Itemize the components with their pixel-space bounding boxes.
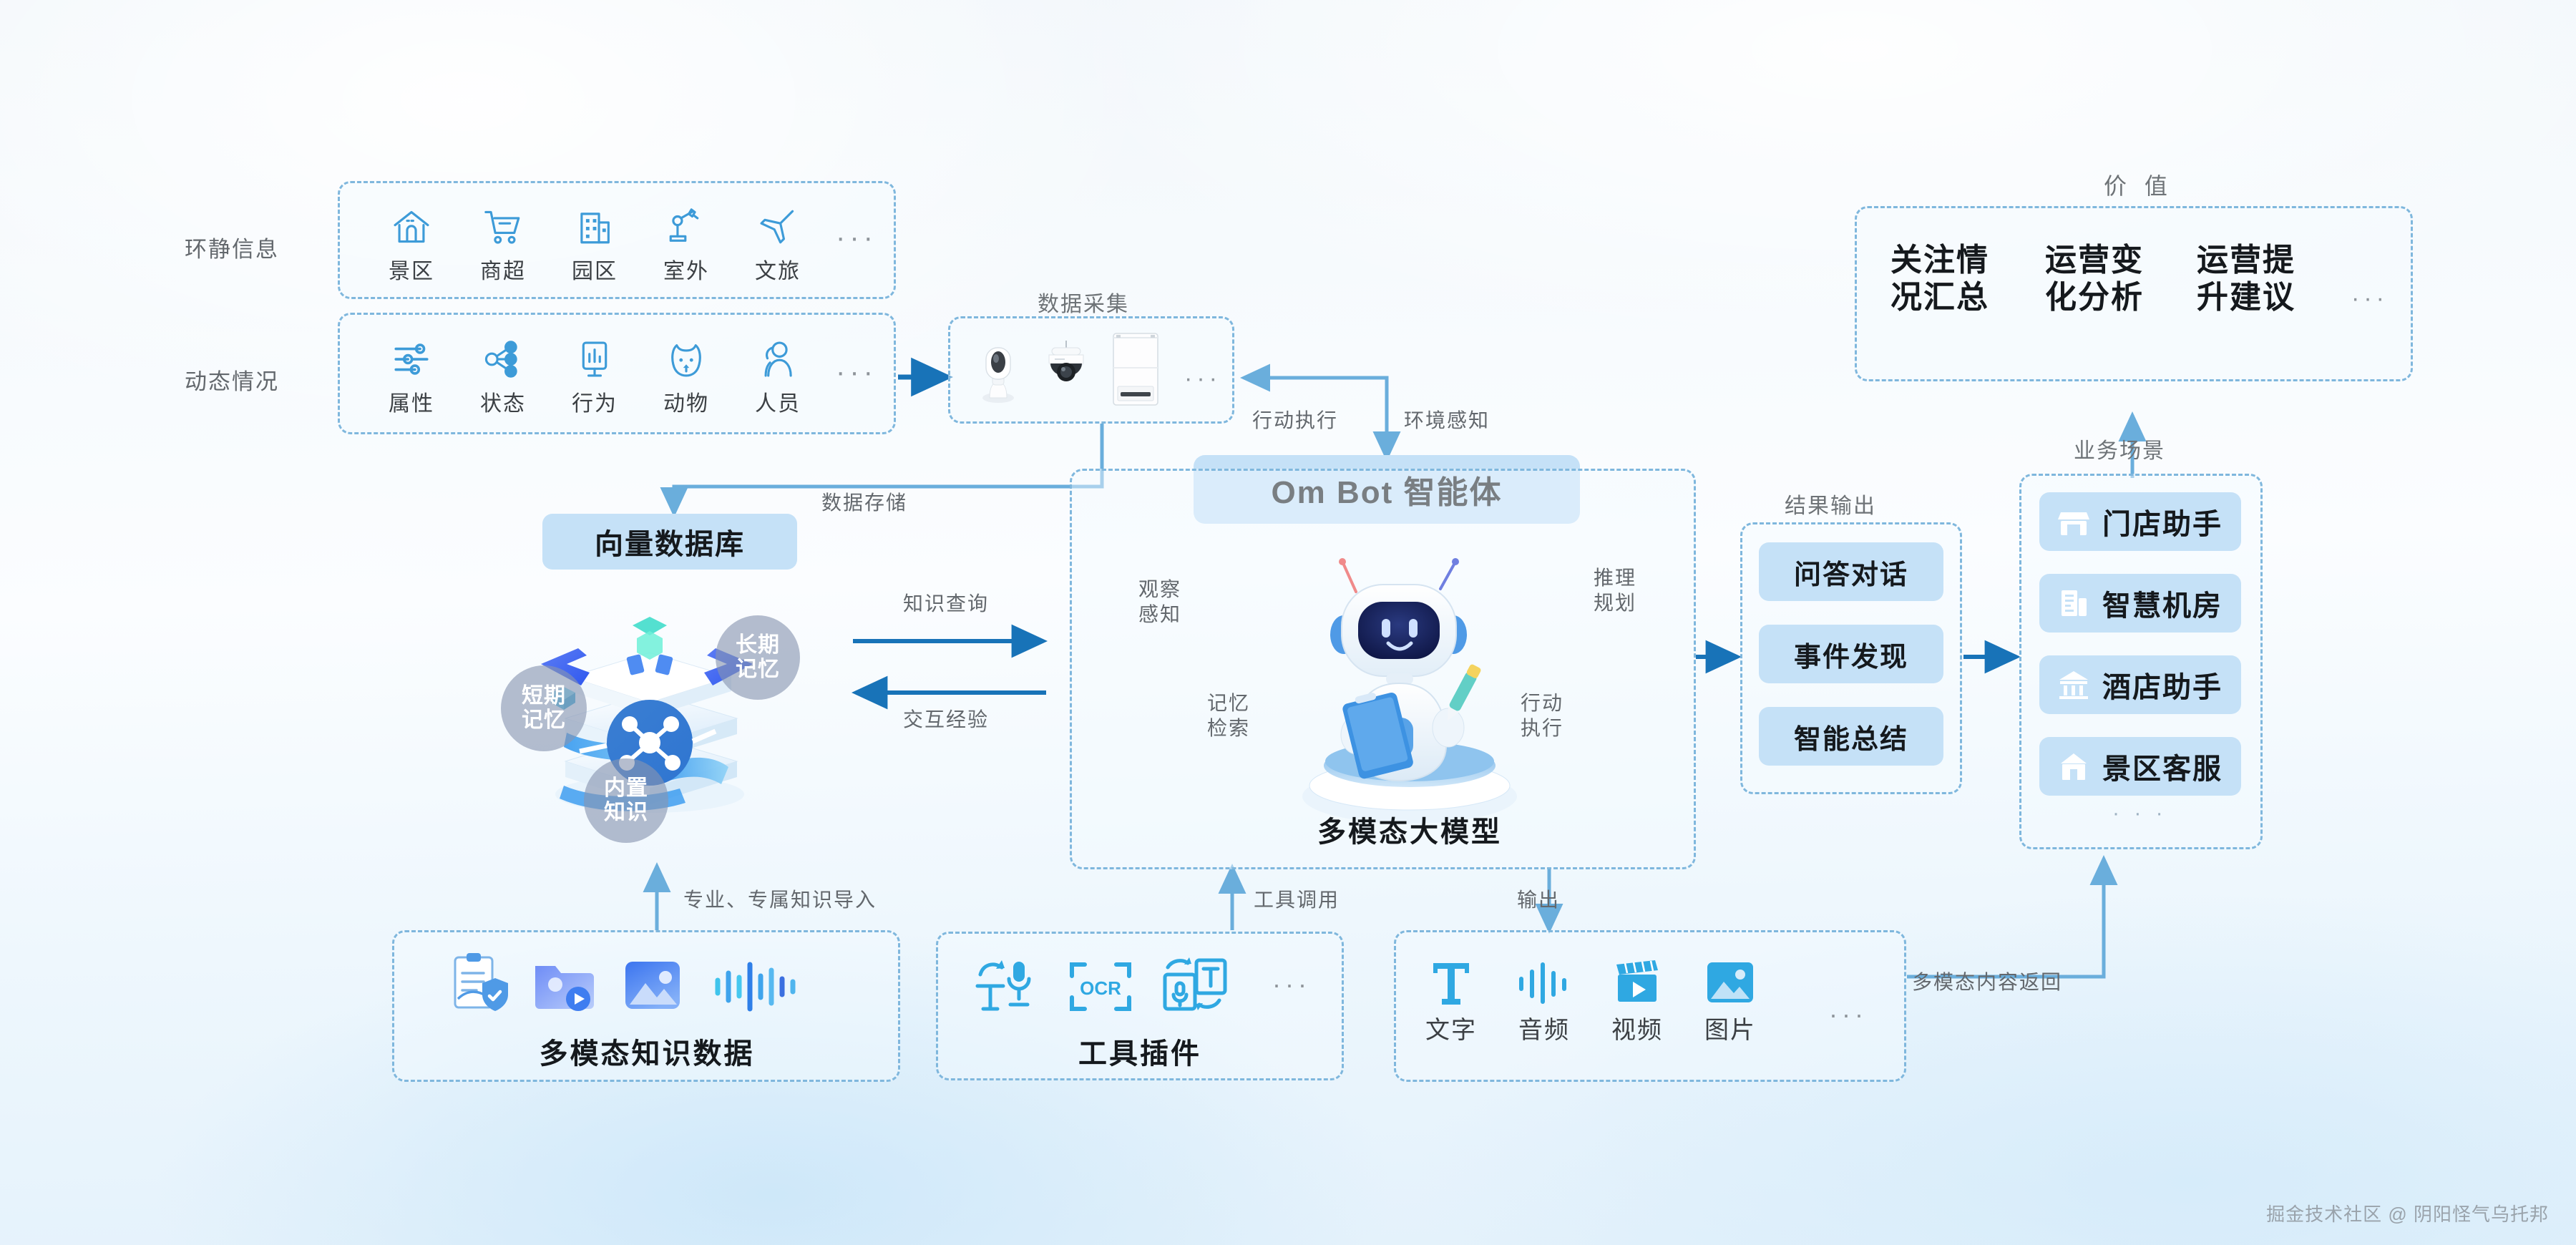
- architecture-diagram: 环静信息 景区 商超: [0, 0, 2576, 1245]
- value-item-1: 运营变 化分析: [2045, 242, 2144, 316]
- ptz-dome-camera-photo: [1038, 335, 1095, 405]
- memory-short-term: 短期 记忆: [501, 665, 587, 751]
- memory-long-term: 长期 记忆: [716, 615, 800, 700]
- indoor-camera-photo: [973, 336, 1023, 404]
- env-static-item-label: 文旅: [755, 253, 801, 285]
- multimodal-return-label: 多模态内容返回: [1912, 970, 2062, 995]
- env-static-item-4[interactable]: 文旅: [738, 195, 817, 285]
- storefront-icon: [2055, 503, 2092, 540]
- value-item-2: 运营提 升建议: [2197, 242, 2296, 316]
- result-output-item-2[interactable]: 智能总结: [1759, 707, 1943, 766]
- modality-item-1[interactable]: 音频: [1497, 952, 1591, 1045]
- value-item-0: 关注情 况汇总: [1890, 242, 1989, 316]
- text-to-speech-icon: [972, 954, 1040, 1016]
- tools-caption: 工具插件: [1015, 1030, 1265, 1072]
- env-static-row-label: 环静信息: [185, 231, 279, 263]
- value-panel-title: 价 值: [2104, 168, 2173, 201]
- env-dynamic-item-1[interactable]: 状态: [464, 327, 542, 417]
- document-shield-icon: [444, 952, 509, 1017]
- modality-item-label: 图片: [1704, 1010, 1756, 1045]
- modality-item-label: 音频: [1518, 1010, 1570, 1045]
- hotel-icon: [2055, 666, 2092, 703]
- env-dynamic-more: ···: [836, 358, 877, 386]
- result-output-item-0[interactable]: 问答对话: [1759, 542, 1943, 601]
- scenario-item-label: 酒店助手: [2102, 664, 2223, 705]
- result-output-item-1[interactable]: 事件发现: [1759, 625, 1943, 683]
- env-static-item-0[interactable]: 景区: [372, 195, 451, 285]
- modality-item-label: 文字: [1425, 1010, 1477, 1045]
- modality-item-3[interactable]: 图片: [1683, 952, 1777, 1045]
- modality-item-label: 视频: [1611, 1010, 1663, 1045]
- video-folder-icon: [531, 953, 597, 1019]
- modality-item-0[interactable]: 文字: [1404, 952, 1498, 1045]
- vector-db-title-label: 向量数据库: [595, 521, 745, 562]
- business-scenarios-more: · · ·: [2112, 803, 2167, 824]
- memory-builtin-label: 内置 知识: [604, 776, 648, 826]
- scenario-item-3[interactable]: 景区客服: [2039, 737, 2241, 796]
- scenic-gate-icon: [2055, 748, 2092, 785]
- env-dynamic-item-0[interactable]: 属性: [372, 327, 451, 417]
- env-static-item-label: 室外: [663, 253, 709, 285]
- memory-short-term-label: 短期 记忆: [522, 684, 566, 733]
- building-icon: [574, 195, 615, 248]
- result-output-item-label: 事件发现: [1794, 635, 1908, 674]
- vector-db-title: 向量数据库: [542, 514, 797, 570]
- robot-illustration: [1241, 547, 1578, 830]
- env-static-item-3[interactable]: 室外: [647, 195, 726, 285]
- audio-wave-icon: [1517, 952, 1571, 1005]
- env-perceive-label: 环境感知: [1404, 408, 1490, 433]
- ombot-observe-label: 观察 感知: [1128, 577, 1192, 627]
- env-static-item-label: 园区: [572, 253, 618, 285]
- speech-to-text-icon: [1158, 953, 1229, 1016]
- data-storage-label: 数据存储: [821, 490, 907, 515]
- people-icon: [757, 327, 799, 380]
- dog-face-icon: [665, 327, 707, 380]
- airplane-icon: [757, 195, 799, 248]
- knowledge-query-label: 知识查询: [903, 591, 989, 616]
- env-dynamic-item-label: 属性: [389, 386, 434, 417]
- svg-text:OCR: OCR: [1080, 977, 1121, 999]
- memory-builtin-knowledge: 内置 知识: [584, 758, 668, 843]
- env-dynamic-item-label: 行为: [572, 386, 618, 417]
- env-dynamic-item-3[interactable]: 动物: [647, 327, 726, 417]
- env-dynamic-row-label: 动态情况: [185, 363, 279, 396]
- action-execute-label: 行动执行: [1252, 408, 1338, 433]
- env-dynamic-item-label: 动物: [663, 386, 709, 417]
- knowledge-data-caption: 多模态知识数据: [464, 1030, 830, 1072]
- env-dynamic-item-4[interactable]: 人员: [738, 327, 817, 417]
- env-static-item-label: 商超: [480, 253, 526, 285]
- env-dynamic-item-2[interactable]: 行为: [555, 327, 634, 417]
- scenario-item-1[interactable]: 智慧机房: [2039, 574, 2241, 633]
- env-static-more: ···: [836, 223, 877, 252]
- data-collection-more: ···: [1184, 366, 1221, 391]
- modalities-more: ···: [1829, 1002, 1868, 1027]
- scenario-item-label: 门店助手: [2102, 501, 2223, 542]
- env-dynamic-item-label: 人员: [755, 386, 801, 417]
- output-label: 输出: [1517, 887, 1560, 912]
- sliders-icon: [391, 327, 432, 380]
- result-output-item-label: 智能总结: [1794, 717, 1908, 756]
- modality-item-2[interactable]: 视频: [1590, 952, 1684, 1045]
- bar-chart-board-icon: [574, 327, 615, 380]
- scenario-item-2[interactable]: 酒店助手: [2039, 655, 2241, 714]
- edge-gateway-photo: [1108, 331, 1163, 408]
- scenario-item-label: 景区客服: [2102, 746, 2223, 787]
- audio-wave-icon: [713, 956, 799, 1017]
- business-scenarios-title: 业务场景: [2074, 433, 2165, 464]
- ombot-reason-label: 推理 规划: [1583, 565, 1647, 615]
- scenario-item-label: 智慧机房: [2102, 582, 2223, 624]
- text-t-icon: [1429, 952, 1473, 1005]
- result-output-item-label: 问答对话: [1794, 552, 1908, 592]
- multimodal-model-caption: 多模态大模型: [1281, 809, 1538, 850]
- memory-long-term-label: 长期 记忆: [736, 633, 780, 683]
- data-collection-title: 数据采集: [1038, 286, 1129, 318]
- shopping-cart-icon: [482, 195, 524, 248]
- tool-invoke-label: 工具调用: [1254, 887, 1340, 912]
- ocr-icon: OCR: [1066, 957, 1135, 1020]
- share-nodes-icon: [482, 327, 524, 380]
- result-output-title: 结果输出: [1785, 488, 1876, 519]
- env-static-item-1[interactable]: 商超: [464, 195, 542, 285]
- robotic-arm-icon: [665, 195, 707, 248]
- env-static-item-2[interactable]: 园区: [555, 195, 634, 285]
- image-icon: [1705, 952, 1755, 1005]
- tools-more: ···: [1272, 972, 1311, 997]
- env-static-item-label: 景区: [389, 253, 434, 285]
- value-panel-more: ···: [2351, 286, 2389, 311]
- env-dynamic-item-label: 状态: [480, 386, 526, 417]
- scenario-item-0[interactable]: 门店助手: [2039, 492, 2241, 551]
- image-icon: [620, 953, 686, 1019]
- interaction-experience-label: 交互经验: [903, 707, 989, 732]
- video-clapper-icon: [1614, 952, 1661, 1005]
- knowledge-import-label: 专业、专属知识导入: [683, 887, 877, 912]
- server-room-icon: [2055, 585, 2092, 622]
- house-icon: [391, 195, 432, 248]
- watermark: 掘金技术社区 @ 阴阳怪气乌托邦: [2266, 1200, 2549, 1226]
